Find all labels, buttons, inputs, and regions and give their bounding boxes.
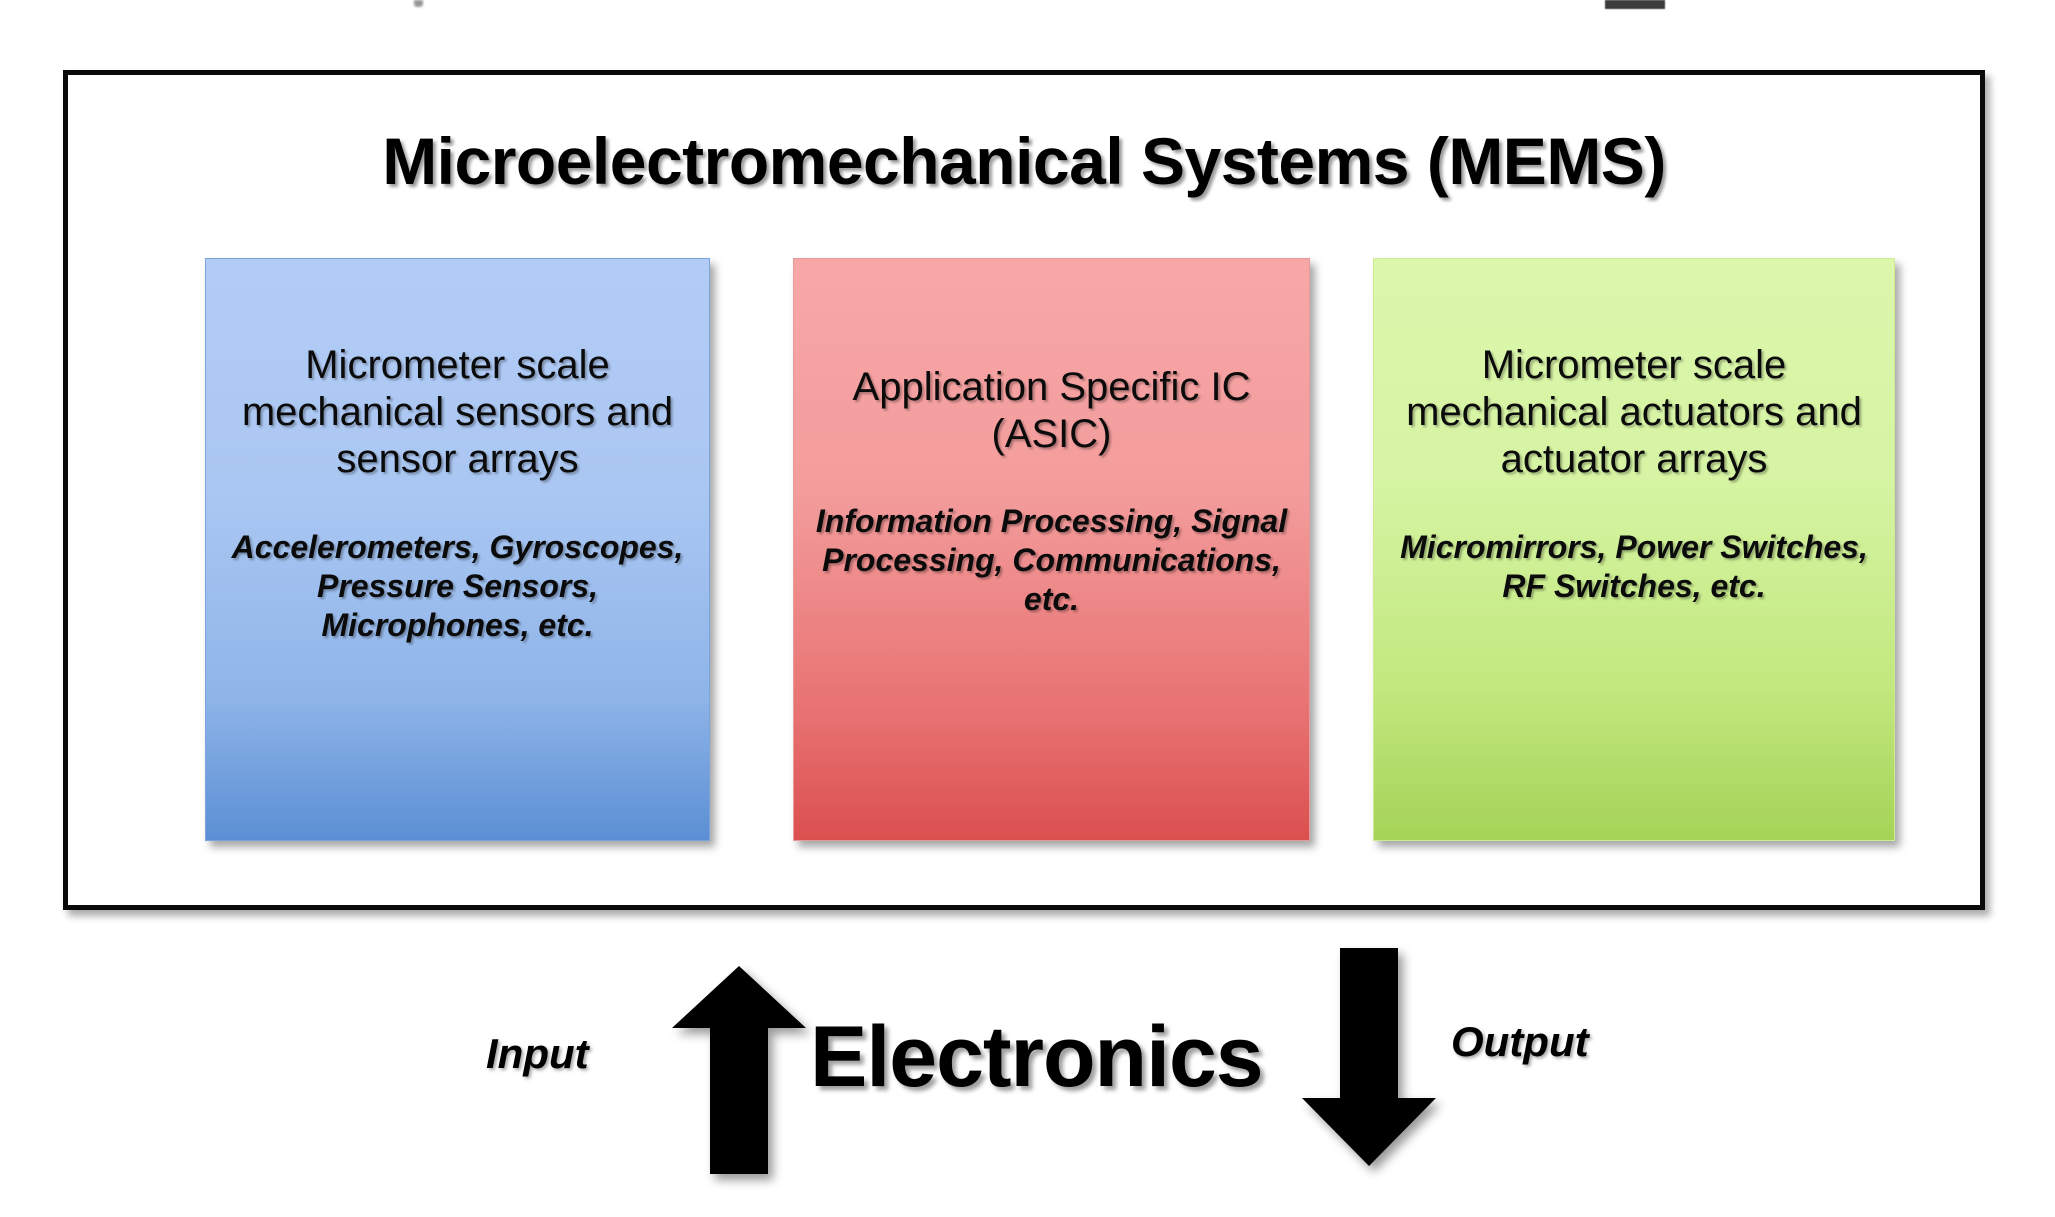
pillar-actuators-examples: Micromirrors, Power Switches, RF Switche… (1388, 528, 1880, 606)
arrow-up-icon (672, 966, 806, 1174)
arrow-down-icon (1302, 948, 1436, 1166)
cropped-glyph-fragment-right (1605, 0, 1665, 9)
input-label: Input (486, 1030, 589, 1078)
pillar-asic-heading: Application Specific IC (ASIC) (808, 364, 1295, 458)
output-label: Output (1451, 1018, 1589, 1066)
pillar-sensors: Micrometer scale mechanical sensors and … (205, 258, 710, 841)
pillar-asic: Application Specific IC (ASIC) Informati… (793, 258, 1310, 841)
pillar-sensors-examples: Accelerometers, Gyroscopes, Pressure Sen… (220, 528, 695, 645)
cropped-glyph-fragment-left (414, 0, 423, 7)
pillar-sensors-heading: Micrometer scale mechanical sensors and … (220, 342, 695, 482)
pillar-asic-examples: Information Processing, Signal Processin… (808, 502, 1295, 619)
page-title: Microelectromechanical Systems (MEMS) (68, 123, 1980, 199)
mems-panel: Microelectromechanical Systems (MEMS) Mi… (63, 70, 1985, 910)
pillar-actuators: Micrometer scale mechanical actuators an… (1373, 258, 1895, 841)
pillar-actuators-heading: Micrometer scale mechanical actuators an… (1388, 342, 1880, 482)
electronics-label: Electronics (810, 1008, 1263, 1107)
electronics-flow-row: Input Electronics Output (0, 930, 2055, 1217)
